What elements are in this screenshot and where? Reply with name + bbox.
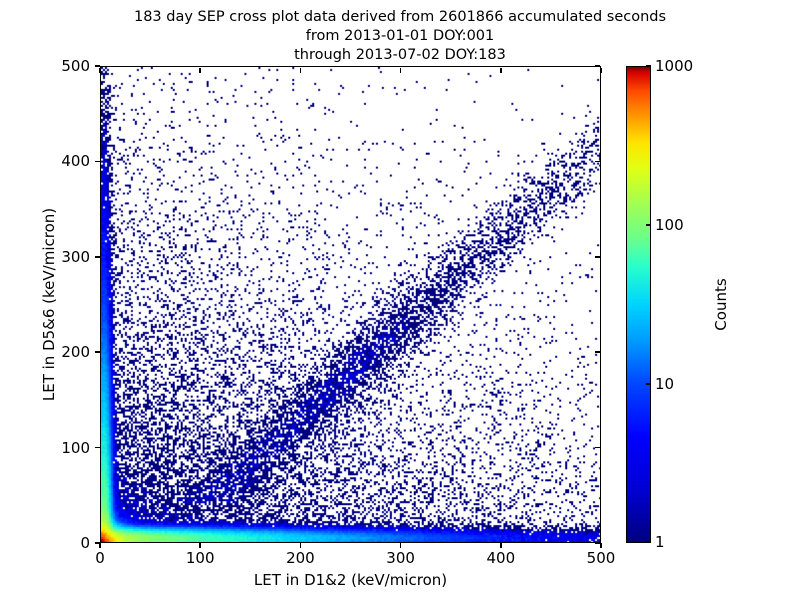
colorbar-tick — [646, 383, 651, 385]
y-axis-tick — [95, 161, 100, 163]
x-axis-tick-top — [99, 68, 101, 73]
x-axis-label: LET in D1&2 (keV/micron) — [100, 571, 601, 589]
y-axis-tick-right — [595, 161, 600, 163]
y-axis-tick-right — [595, 65, 600, 67]
x-axis-tick-top — [199, 68, 201, 73]
colorbar-tick-label: 10 — [655, 375, 674, 393]
chart-title-line-2: from 2013-01-01 DOY:001 — [0, 27, 800, 46]
x-axis-tick — [199, 543, 201, 548]
x-axis-tick-label: 500 — [587, 549, 616, 567]
y-axis-label: LET in D5&6 (keV/micron) — [40, 66, 58, 543]
x-axis-tick-top — [500, 68, 502, 73]
x-axis-tick-label: 300 — [386, 549, 415, 567]
y-axis-tick — [95, 256, 100, 258]
y-axis-tick — [95, 65, 100, 67]
x-axis-tick — [500, 543, 502, 548]
density-heatmap — [101, 67, 600, 542]
y-axis-tick-right — [595, 447, 600, 449]
x-axis-tick — [400, 543, 402, 548]
x-axis-tick — [99, 543, 101, 548]
plot-area[interactable] — [100, 66, 601, 543]
x-axis-tick-label: 100 — [186, 549, 215, 567]
y-axis-tick-right — [595, 256, 600, 258]
colorbar-tick — [646, 65, 651, 67]
figure-canvas: 183 day SEP cross plot data derived from… — [0, 0, 800, 600]
colorbar-gradient — [627, 67, 650, 542]
y-axis-tick — [95, 351, 100, 353]
y-axis-tick — [95, 542, 100, 544]
x-axis-tick-label: 200 — [286, 549, 315, 567]
colorbar-label: Counts — [712, 66, 730, 543]
colorbar[interactable] — [626, 66, 651, 543]
chart-title-line-1: 183 day SEP cross plot data derived from… — [0, 8, 800, 27]
x-axis-tick-top — [400, 68, 402, 73]
colorbar-tick — [646, 541, 651, 543]
colorbar-tick-label: 1 — [655, 533, 665, 551]
x-axis-tick — [600, 543, 602, 548]
colorbar-tick — [646, 224, 651, 226]
y-axis-tick — [95, 447, 100, 449]
x-axis-tick — [300, 543, 302, 548]
colorbar-tick-label: 1000 — [655, 57, 693, 75]
x-axis-tick-top — [600, 68, 602, 73]
y-axis-tick-right — [595, 351, 600, 353]
x-axis-tick-label: 0 — [95, 549, 105, 567]
x-axis-tick-top — [300, 68, 302, 73]
y-axis-tick-right — [595, 542, 600, 544]
colorbar-tick-label: 100 — [655, 216, 684, 234]
x-axis-tick-label: 400 — [486, 549, 515, 567]
